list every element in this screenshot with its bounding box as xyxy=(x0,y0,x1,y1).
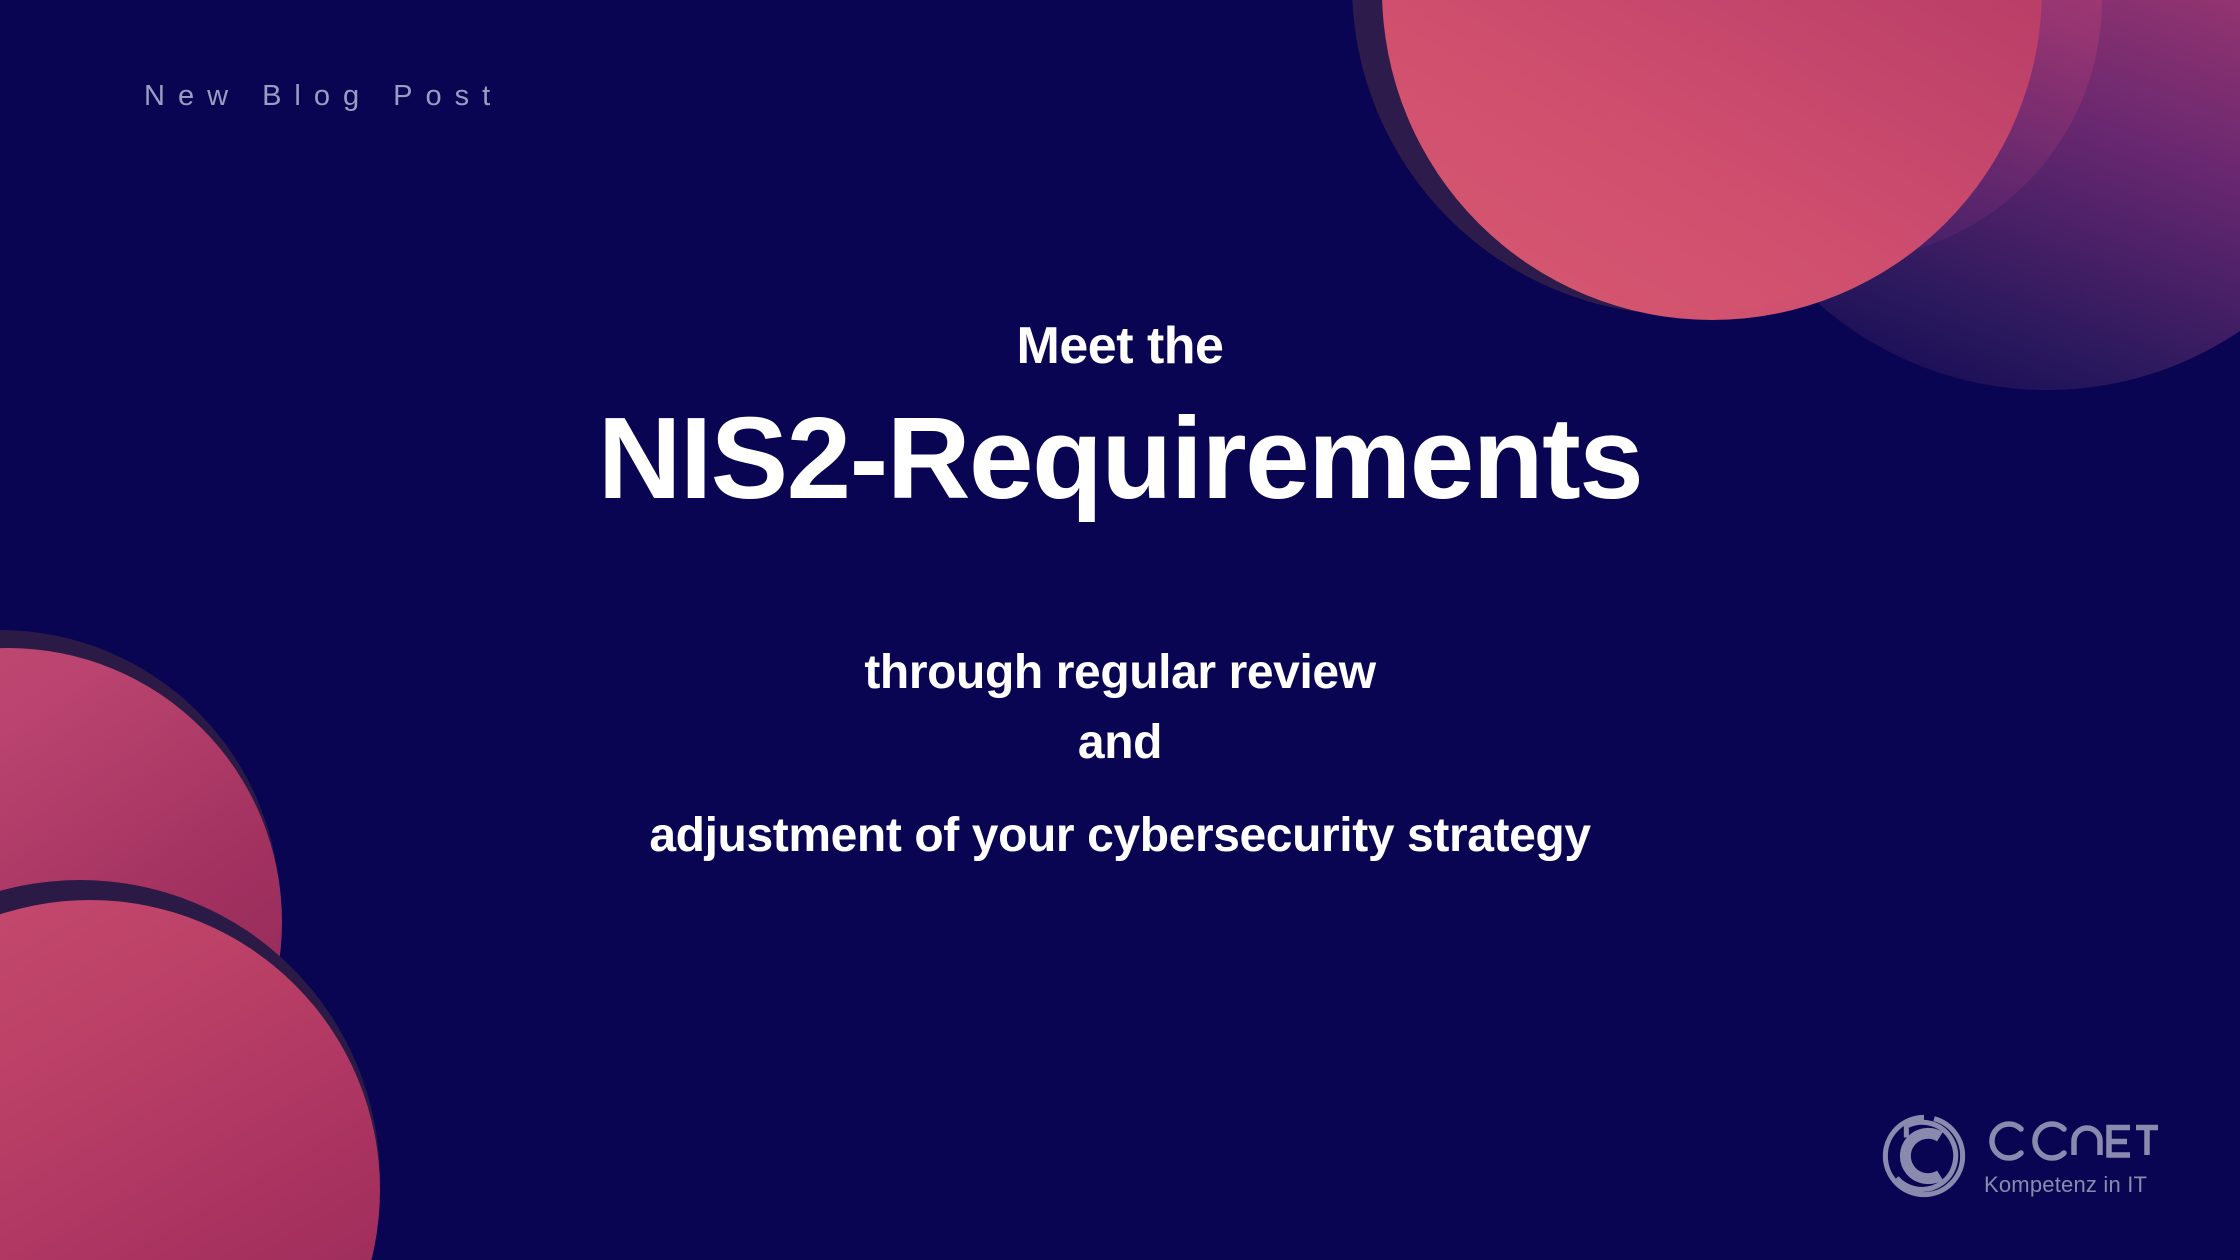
bottom-left-front-circle xyxy=(0,900,380,1260)
ccnet-tagline: Kompetenz in IT xyxy=(1984,1174,2160,1196)
ccnet-logo-text: Kompetenz in IT xyxy=(1984,1117,2160,1196)
subtitle-line-3: adjustment of your cybersecurity strateg… xyxy=(0,801,2240,871)
page-title: NIS2-Requirements xyxy=(0,394,2240,524)
subtitle-block: through regular review and adjustment of… xyxy=(0,638,2240,871)
ccnet-wordmark xyxy=(1984,1117,2160,1165)
headline-kicker: Meet the xyxy=(0,318,2240,374)
eyebrow-label: New Blog Post xyxy=(144,80,503,113)
top-right-halo-circle xyxy=(1352,0,2012,315)
subtitle-line-2: and xyxy=(0,708,2240,778)
ccnet-logo: Kompetenz in IT xyxy=(1882,1114,2160,1198)
ccnet-wordmark-glyphs xyxy=(1984,1117,2160,1165)
subtitle-line-1: through regular review xyxy=(0,638,2240,708)
decorative-background xyxy=(0,0,2240,1260)
headline-block: Meet the NIS2-Requirements xyxy=(0,318,2240,524)
top-right-front-circle xyxy=(1382,0,2042,320)
bottom-left-halo2-circle xyxy=(0,880,380,1260)
ccnet-circles-icon xyxy=(1882,1114,1966,1198)
top-right-mid-circle xyxy=(1582,0,2102,260)
blog-post-banner: New Blog Post Meet the NIS2-Requirements… xyxy=(0,0,2240,1260)
